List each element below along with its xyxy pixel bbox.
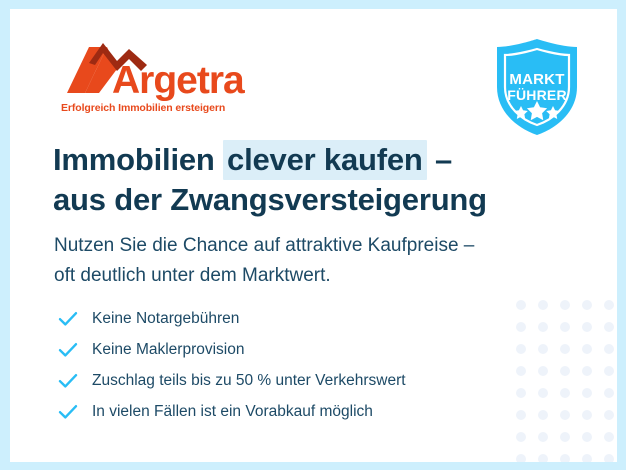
- benefit-label: In vielen Fällen ist ein Vorabkauf mögli…: [84, 402, 373, 422]
- benefit-item: Keine Notargebühren: [58, 303, 518, 334]
- svg-text:Argetra: Argetra: [112, 59, 245, 102]
- check-icon: [58, 402, 84, 422]
- promo-banner: Argetra Erfolgreich Immobilien ersteiger…: [0, 0, 626, 470]
- headline: Immobilien clever kaufen – aus der Zwang…: [53, 140, 573, 220]
- decorative-dot: [582, 388, 592, 398]
- decorative-dot: [582, 432, 592, 442]
- benefit-label: Keine Maklerprovision: [84, 340, 245, 360]
- benefit-label: Zuschlag teils bis zu 50 % unter Verkehr…: [84, 371, 406, 391]
- decorative-dot: [604, 410, 614, 420]
- headline-highlight: clever kaufen: [223, 140, 427, 180]
- decorative-dot: [582, 300, 592, 310]
- decorative-dot: [538, 300, 548, 310]
- frame-border-top: [0, 0, 626, 9]
- decorative-dot: [538, 432, 548, 442]
- frame-border-right: [617, 0, 626, 470]
- benefits-list: Keine NotargebührenKeine Maklerprovision…: [58, 303, 518, 427]
- check-icon: [58, 340, 84, 360]
- headline-text-after: –: [427, 142, 452, 177]
- benefit-item: Zuschlag teils bis zu 50 % unter Verkehr…: [58, 365, 518, 396]
- svg-text:Erfolgreich Immobilien ersteig: Erfolgreich Immobilien ersteigern: [61, 102, 225, 114]
- decorative-dot: [582, 344, 592, 354]
- shield-badge-icon: MARKT FÜHRER: [491, 37, 583, 137]
- decorative-dot: [604, 388, 614, 398]
- decorative-dot: [538, 322, 548, 332]
- decorative-dot: [604, 366, 614, 376]
- frame-border-bottom: [0, 462, 626, 470]
- decorative-dot: [560, 322, 570, 332]
- decorative-dot: [560, 366, 570, 376]
- benefit-label: Keine Notargebühren: [84, 309, 239, 329]
- decorative-dot: [560, 432, 570, 442]
- subheading: Nutzen Sie die Chance auf attraktive Kau…: [54, 231, 574, 291]
- benefit-item: In vielen Fällen ist ein Vorabkauf mögli…: [58, 396, 518, 427]
- decorative-dot: [604, 322, 614, 332]
- banner-canvas: Argetra Erfolgreich Immobilien ersteiger…: [10, 9, 617, 462]
- decorative-dot: [604, 300, 614, 310]
- decorative-dot: [560, 300, 570, 310]
- decorative-dot: [582, 366, 592, 376]
- decorative-dot: [538, 366, 548, 376]
- frame-border-left: [0, 0, 10, 470]
- decorative-dot: [582, 322, 592, 332]
- decorative-dot-grid: [516, 300, 617, 462]
- check-icon: [58, 371, 84, 391]
- svg-text:MARKT: MARKT: [509, 71, 564, 88]
- svg-text:FÜHRER: FÜHRER: [507, 87, 567, 103]
- decorative-dot: [516, 454, 526, 462]
- decorative-dot: [538, 410, 548, 420]
- subheading-line-2: oft deutlich unter dem Marktwert.: [54, 261, 574, 291]
- headline-line-1: Immobilien clever kaufen –: [53, 140, 573, 180]
- benefit-item: Keine Maklerprovision: [58, 334, 518, 365]
- decorative-dot: [582, 410, 592, 420]
- check-icon: [58, 309, 84, 329]
- decorative-dot: [560, 388, 570, 398]
- decorative-dot: [538, 344, 548, 354]
- decorative-dot: [604, 454, 614, 462]
- headline-line-2: aus der Zwangsversteigerung: [53, 180, 573, 220]
- decorative-dot: [516, 432, 526, 442]
- subheading-line-1: Nutzen Sie die Chance auf attraktive Kau…: [54, 231, 574, 261]
- decorative-dot: [560, 454, 570, 462]
- argetra-logo-icon: Argetra Erfolgreich Immobilien ersteiger…: [55, 41, 255, 119]
- argetra-logo[interactable]: Argetra Erfolgreich Immobilien ersteiger…: [55, 41, 255, 119]
- decorative-dot: [604, 432, 614, 442]
- decorative-dot: [538, 454, 548, 462]
- decorative-dot: [604, 344, 614, 354]
- headline-text-before: Immobilien: [53, 142, 223, 177]
- markt-fuehrer-badge: MARKT FÜHRER: [491, 37, 583, 137]
- decorative-dot: [560, 344, 570, 354]
- decorative-dot: [582, 454, 592, 462]
- decorative-dot: [560, 410, 570, 420]
- decorative-dot: [538, 388, 548, 398]
